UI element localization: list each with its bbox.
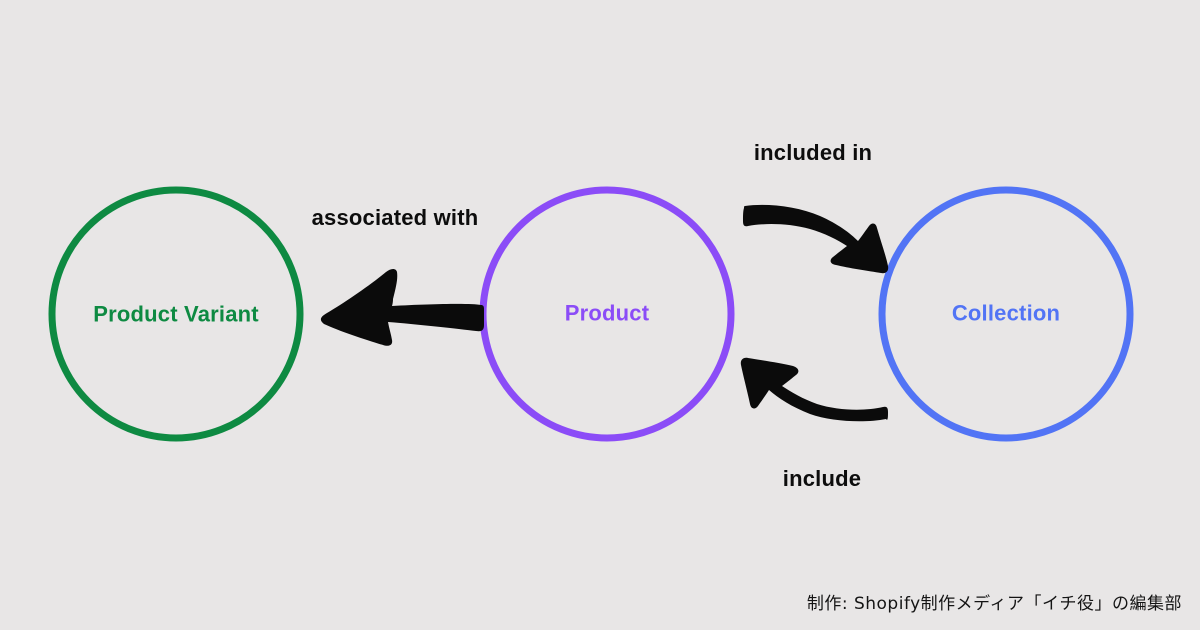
node-product[interactable]: Product (483, 190, 731, 438)
credit-text: 制作: Shopify制作メディア「イチ役」の編集部 (807, 589, 1182, 614)
edge-include: include (741, 358, 888, 491)
product-label: Product (565, 301, 650, 326)
collection-label: Collection (952, 301, 1060, 326)
edge-included-in: included in (743, 140, 888, 273)
node-product-variant[interactable]: Product Variant (52, 190, 300, 438)
arrow-curved-right-icon (743, 205, 888, 273)
arrow-left-icon (321, 269, 484, 346)
edge-associated-with: associated with (312, 205, 484, 346)
node-collection[interactable]: Collection (882, 190, 1130, 438)
product-variant-label: Product Variant (93, 302, 259, 327)
arrow-curved-left-icon (741, 358, 888, 421)
included-in-label: included in (754, 140, 872, 165)
associated-with-label: associated with (312, 205, 479, 230)
include-label: include (783, 466, 861, 491)
entity-relationship-diagram: Product Variant Product Collection assoc… (0, 0, 1200, 630)
